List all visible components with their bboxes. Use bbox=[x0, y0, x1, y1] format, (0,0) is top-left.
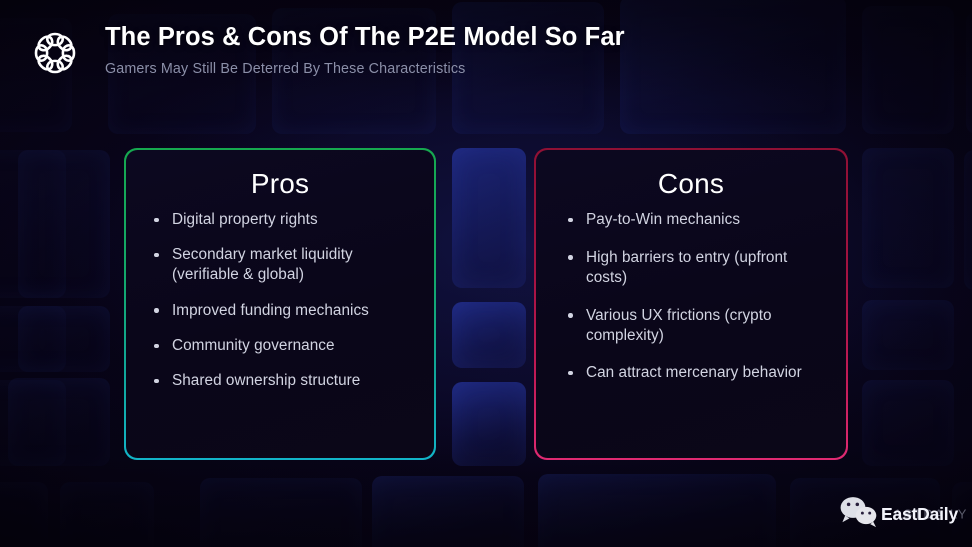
list-item-label: Improved funding mechanics bbox=[172, 302, 369, 319]
bullet-dot-icon bbox=[154, 379, 159, 384]
bullet-dot-icon bbox=[568, 313, 573, 318]
list-item-label: Secondary market liquidity (verifiable &… bbox=[172, 246, 353, 283]
bullet-dot-icon bbox=[568, 218, 573, 223]
watermark-text-wrap: EASTDAILY EastDaily bbox=[881, 501, 958, 527]
list-item-label: Various UX frictions (crypto complexity) bbox=[586, 307, 772, 344]
list-item: Various UX frictions (crypto complexity) bbox=[556, 306, 826, 346]
cons-heading: Cons bbox=[556, 168, 826, 200]
bullet-dot-icon bbox=[568, 371, 573, 376]
bullet-dot-icon bbox=[154, 218, 159, 223]
watermark: EASTDAILY EastDaily bbox=[839, 491, 958, 537]
bullet-dot-icon bbox=[154, 308, 159, 313]
cons-panel-body: Cons Pay-to-Win mechanics High barriers … bbox=[536, 150, 846, 458]
list-item-label: Digital property rights bbox=[172, 211, 318, 228]
chain-knot-logo-icon bbox=[26, 24, 84, 87]
list-item-label: High barriers to entry (upfront costs) bbox=[586, 249, 787, 286]
list-item-label: Pay-to-Win mechanics bbox=[586, 211, 740, 228]
page-title: The Pros & Cons Of The P2E Model So Far bbox=[105, 22, 625, 52]
list-item: Can attract mercenary behavior bbox=[556, 363, 826, 383]
bullet-dot-icon bbox=[568, 255, 573, 260]
pros-panel-body: Pros Digital property rights Secondary m… bbox=[126, 150, 434, 458]
cons-list: Pay-to-Win mechanics High barriers to en… bbox=[556, 210, 826, 383]
wechat-icon bbox=[839, 495, 879, 534]
list-item: Community governance bbox=[146, 336, 414, 356]
list-item: Secondary market liquidity (verifiable &… bbox=[146, 245, 414, 285]
list-item-label: Can attract mercenary behavior bbox=[586, 364, 802, 381]
list-item: Pay-to-Win mechanics bbox=[556, 210, 826, 230]
page-subtitle: Gamers May Still Be Deterred By These Ch… bbox=[105, 61, 625, 78]
list-item: Shared ownership structure bbox=[146, 371, 414, 391]
slide-header: The Pros & Cons Of The P2E Model So Far … bbox=[0, 0, 625, 87]
header-text-block: The Pros & Cons Of The P2E Model So Far … bbox=[105, 22, 625, 78]
pros-heading: Pros bbox=[146, 168, 414, 200]
list-item: Improved funding mechanics bbox=[146, 301, 414, 321]
watermark-label: EastDaily bbox=[881, 504, 958, 525]
list-item: High barriers to entry (upfront costs) bbox=[556, 248, 826, 288]
bullet-dot-icon bbox=[154, 344, 159, 349]
cons-panel: Cons Pay-to-Win mechanics High barriers … bbox=[534, 148, 848, 460]
slide-canvas: The Pros & Cons Of The P2E Model So Far … bbox=[0, 0, 972, 547]
list-item-label: Shared ownership structure bbox=[172, 372, 360, 389]
pros-panel: Pros Digital property rights Secondary m… bbox=[124, 148, 436, 460]
list-item: Digital property rights bbox=[146, 210, 414, 230]
bullet-dot-icon bbox=[154, 253, 159, 258]
pros-list: Digital property rights Secondary market… bbox=[146, 210, 414, 391]
list-item-label: Community governance bbox=[172, 337, 335, 354]
